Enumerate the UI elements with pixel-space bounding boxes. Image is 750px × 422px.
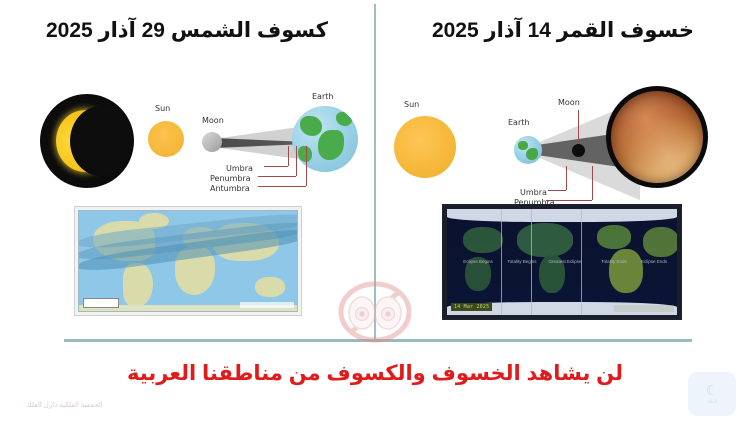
leader-umbra-left <box>288 146 289 166</box>
earth-label-left: Earth <box>312 92 333 101</box>
map-zone-label-0: Eclipse Begins <box>461 259 495 266</box>
infographic-canvas: كسوف الشمس 29 آذار 2025 خسوف القمر 14 آذ… <box>0 0 750 422</box>
sun-icon-right <box>394 116 456 178</box>
umbra-label-right: Umbra <box>520 188 547 197</box>
leader-antumbra-left-h <box>258 186 306 187</box>
solar-eclipse-visibility-map <box>74 206 302 316</box>
sun-icon-left <box>148 121 184 157</box>
earth-icon-right <box>514 136 542 164</box>
right-panel-title: خسوف القمر 14 آذار 2025 <box>376 18 750 43</box>
earth-label-right: Earth <box>508 118 529 127</box>
moon-icon-left <box>202 132 222 152</box>
leader-antumbra-left <box>306 146 307 186</box>
map-zone-label-2: Greatest Eclipse <box>545 259 585 266</box>
total-lunar-eclipse-blood-moon-photo <box>606 86 708 188</box>
map-zone-label-1: Totality Begins <box>505 259 539 266</box>
moon-label-right: Moon <box>558 98 580 107</box>
crescent-moon-icon: ☾ <box>706 383 719 397</box>
map-scale-box <box>83 298 119 308</box>
leader-moon-right <box>578 110 579 142</box>
map-legend-strip <box>614 305 674 312</box>
umbra-label-left: Umbra <box>226 164 253 173</box>
lunar-eclipse-panel: Sun Earth Moon Umbra Penumbra <box>376 78 750 336</box>
left-panel-title: كسوف الشمس 29 آذار 2025 <box>0 18 374 43</box>
leader-penumbra-left-h <box>258 176 296 177</box>
map-credit-strip <box>240 302 294 308</box>
map-date-badge: 14 Mar 2025 <box>451 303 492 311</box>
leader-umbra-right <box>566 166 567 190</box>
moon-icon-right <box>572 144 585 157</box>
solar-eclipse-geometry-diagram: Moon Earth Umbra Penumbra Antumbra <box>196 88 364 200</box>
solar-eclipse-panel: Sun Moon Earth Umbra Penumbra Antumbra <box>0 78 374 336</box>
leader-umbra-left-h <box>264 166 288 167</box>
watermark-logo: ☾ الفلك <box>688 372 736 416</box>
leader-umbra-right-h <box>548 190 566 191</box>
sun-label-right: Sun <box>404 100 419 109</box>
antumbra-label-left: Antumbra <box>210 184 250 193</box>
partial-solar-eclipse-photo <box>40 94 134 188</box>
leader-penumbra-left <box>296 146 297 176</box>
eclipse-contour-1 <box>501 209 502 315</box>
moon-occulting-disc <box>70 106 132 176</box>
no-naked-eye-viewing-icon <box>338 281 412 343</box>
map-zone-label-4: Eclipse Ends <box>637 259 671 266</box>
sun-label-left: Sun <box>155 104 170 113</box>
moon-label-left: Moon <box>202 116 224 125</box>
penumbra-label-left: Penumbra <box>210 174 251 183</box>
watermark-label: الفلك <box>707 399 717 405</box>
credit-text: الجمعية الفلكية دارل الفلك <box>26 401 103 409</box>
blood-moon-disc <box>611 91 703 183</box>
leader-penumbra-right <box>592 166 593 200</box>
lunar-eclipse-geometry-diagram: Sun Earth Moon Umbra Penumbra <box>380 84 630 212</box>
earth-icon-left <box>292 106 358 172</box>
warning-text: لن يشاهد الخسوف والكسوف من مناطقنا العرب… <box>0 361 750 386</box>
map-zone-label-3: Totality Ends <box>597 259 631 266</box>
lunar-eclipse-visibility-map: Eclipse Begins Totality Begins Greatest … <box>442 204 682 320</box>
